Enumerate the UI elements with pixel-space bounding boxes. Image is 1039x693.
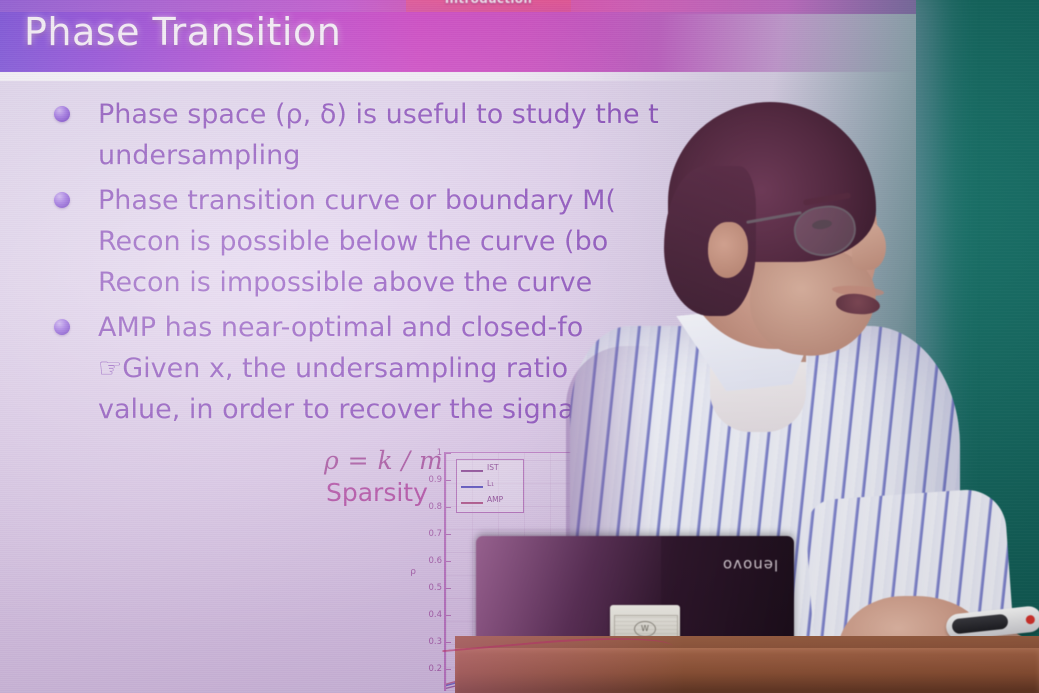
plot-sparsity-label: Sparsity [326,478,428,507]
legend-label: IST [487,463,499,472]
slide-title: Phase Transition [24,10,341,54]
bullet-line: Phase space (ρ, δ) is useful to study th… [54,94,714,135]
plot-y-tick-mark [446,615,451,616]
legend-swatch-ist [461,470,483,472]
plot-y-tick-label: 0.3 [428,637,442,647]
legend-entry: AMP [461,495,519,509]
plot-title: Compa [646,449,685,460]
legend-entry: IST [461,463,519,477]
bullet-block-2: Phase transition curve or boundary M( Re… [54,180,714,303]
plot-y-tick-label: 0.7 [428,529,442,539]
slide-section-tab-label: Introduction [406,0,571,9]
plot-y-tick-label: 1 [437,448,442,458]
plot-legend: IST L₁ AMP [456,459,524,513]
plot-y-tick-mark [446,453,451,454]
slide-body: Phase space (ρ, δ) is useful to study th… [54,94,714,434]
plot-y-axis-label: ρ [410,567,416,577]
legend-swatch-l1 [461,486,483,488]
plot-y-tick-mark [446,480,451,481]
bullet-line: Phase transition curve or boundary M( [54,180,714,221]
plot-formula-label: ρ = k / m [324,446,443,475]
bullet-line: AMP has near-optimal and closed-fo [54,307,714,348]
plot-y-tick-label: 0.2 [428,664,442,674]
lenovo-logo: lenovo [722,556,778,574]
bullet-line: Recon is possible below the curve (bo [54,221,714,262]
bullet-line: undersampling [54,135,714,176]
plot-y-tick-mark [446,642,451,643]
plot-y-tick-label: 0.8 [428,502,442,512]
plot-y-tick-mark [446,534,451,535]
adapter-certification-icon: W [634,621,656,637]
bullet-block-1: Phase space (ρ, δ) is useful to study th… [54,94,714,176]
legend-entry: L₁ [461,479,519,493]
legend-swatch-amp [461,502,483,504]
plot-y-tick-label: 0.4 [428,610,442,620]
bullet-line-pointing-hand: ☞Given x, the undersampling ratio [54,348,714,389]
screenshot-stage: Introduction Phase Transition Phase spac… [0,0,1039,693]
bullet-block-3: AMP has near-optimal and closed-fo ☞Give… [54,307,714,430]
bullet-line: Recon is impossible above the curve [54,262,714,303]
bullet-line: value, in order to recover the signa [54,389,714,430]
plot-y-tick-mark [446,561,451,562]
plot-y-tick-mark [446,588,451,589]
slide-title-underline [0,72,916,81]
plot-y-tick-label: 0.6 [428,556,442,566]
legend-label: L₁ [487,479,494,488]
legend-label: AMP [487,495,503,504]
plot-y-tick-label: 0.5 [428,583,442,593]
plot-y-tick-label: 0.9 [428,475,442,485]
plot-y-tick-mark [446,507,451,508]
